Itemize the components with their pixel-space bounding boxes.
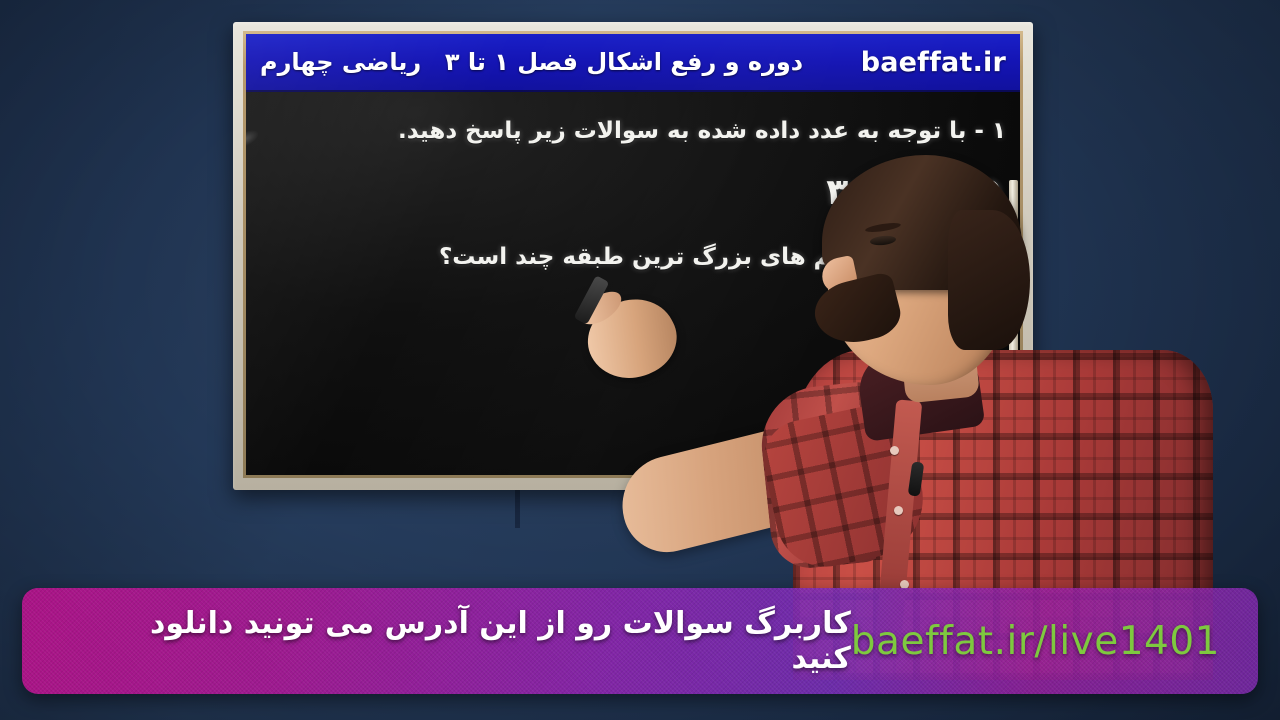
shirt-button [890,446,899,455]
board-header-bar: baeffat.ir دوره و رفع اشکال فصل ۱ تا ۳ ر… [246,34,1020,92]
subject-title: ریاضی چهارم [260,48,427,76]
download-url-link[interactable]: baeffat.ir/live1401 [851,619,1220,664]
promo-banner: baeffat.ir/live1401 کاربرگ سوالات رو از … [22,588,1258,694]
chalk-smudge [246,126,262,151]
teacher-figure [560,150,1280,650]
video-frame: baeffat.ir دوره و رفع اشکال فصل ۱ تا ۳ ر… [0,0,1280,720]
question-line-text: ۱ - با توجه به عدد داده شده به سوالات زی… [398,118,1006,144]
teacher-hair-side [948,210,1030,350]
site-logo-text: baeffat.ir [861,47,1006,78]
board-stand-leg-left [515,486,520,528]
lesson-title: دوره و رفع اشکال فصل ۱ تا ۳ [427,48,860,76]
banner-message-text: کاربرگ سوالات رو از این آدرس می تونید دا… [60,606,851,676]
shirt-button [894,506,903,515]
